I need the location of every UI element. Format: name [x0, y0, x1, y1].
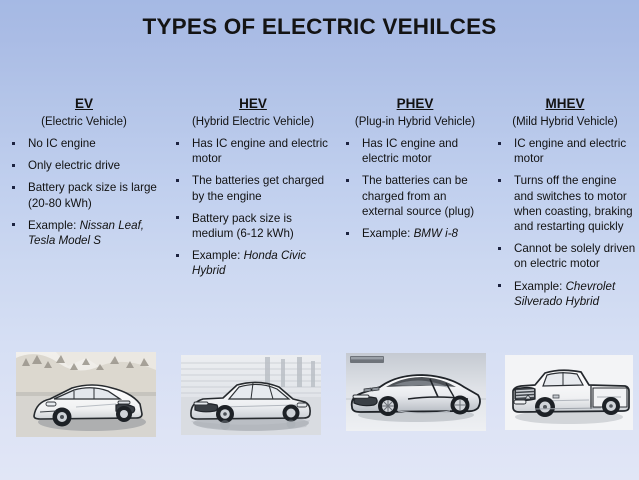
bullet-text: Battery pack size is medium (6-12 kWh): [192, 212, 294, 240]
list-item: Example: Chevrolet Silverado Hybrid: [492, 279, 638, 309]
column-mhev: MHEV (Mild Hybrid Vehicle) IC engine and…: [492, 96, 638, 316]
bullet-text: No IC engine: [28, 137, 96, 150]
bullet-emphasis: BMW i-8: [414, 227, 458, 240]
list-item: Turns off the engine and switches to mot…: [492, 173, 638, 234]
column-phev-bullet-list: Has IC engine and electric motor The bat…: [340, 136, 490, 241]
tesla-model-s-photo: [16, 352, 156, 437]
bullet-text: IC engine and electric motor: [514, 137, 626, 165]
column-mhev-heading: MHEV: [492, 96, 638, 112]
bullet-text: Cannot be solely driven on electric moto…: [514, 242, 635, 270]
column-hev-subheading: (Hybrid Electric Vehicle): [170, 115, 336, 130]
bullet-text: Only electric drive: [28, 159, 120, 172]
list-item: The batteries get charged by the engine: [170, 173, 336, 203]
list-item: Only electric drive: [6, 158, 162, 173]
list-item: Example: Honda Civic Hybrid: [170, 248, 336, 278]
column-hev-heading: HEV: [170, 96, 336, 112]
column-phev: PHEV (Plug-in Hybrid Vehicle) Has IC eng…: [340, 96, 490, 248]
list-item: Has IC engine and electric motor: [340, 136, 490, 166]
list-item: Cannot be solely driven on electric moto…: [492, 241, 638, 271]
column-phev-heading: PHEV: [340, 96, 490, 112]
bullet-text: The batteries can be charged from an ext…: [362, 174, 474, 217]
list-item: Example: BMW i-8: [340, 226, 490, 241]
column-hev: HEV (Hybrid Electric Vehicle) Has IC eng…: [170, 96, 336, 286]
list-item: Has IC engine and electric motor: [170, 136, 336, 166]
column-ev-bullet-list: No IC engine Only electric drive Battery…: [6, 136, 162, 248]
list-item: No IC engine: [6, 136, 162, 151]
bullet-text: Has IC engine and electric motor: [362, 137, 458, 165]
bullet-text: Example:: [28, 219, 80, 232]
column-ev-subheading: (Electric Vehicle): [6, 115, 162, 130]
slide-canvas: TYPES OF ELECTRIC VEHILCES EV (Electric …: [0, 0, 639, 480]
list-item: Battery pack size is medium (6-12 kWh): [170, 211, 336, 241]
honda-civic-hybrid-photo: [181, 355, 321, 435]
bullet-text: Has IC engine and electric motor: [192, 137, 328, 165]
column-hev-bullet-list: Has IC engine and electric motor The bat…: [170, 136, 336, 279]
list-item: The batteries can be charged from an ext…: [340, 173, 490, 219]
column-mhev-bullet-list: IC engine and electric motor Turns off t…: [492, 136, 638, 309]
bullet-text: Example:: [192, 249, 244, 262]
bullet-text: Battery pack size is large (20-80 kWh): [28, 181, 157, 209]
chevrolet-silverado-hybrid-photo: [505, 355, 633, 430]
bullet-text: The batteries get charged by the engine: [192, 174, 324, 202]
column-ev-heading: EV: [6, 96, 162, 112]
bmw-i8-photo: [346, 353, 486, 431]
page-title: TYPES OF ELECTRIC VEHILCES: [0, 14, 639, 40]
bullet-text: Turns off the engine and switches to mot…: [514, 174, 633, 233]
list-item: Example: Nissan Leaf, Tesla Model S: [6, 218, 162, 248]
column-phev-subheading: (Plug-in Hybrid Vehicle): [340, 115, 490, 130]
list-item: Battery pack size is large (20-80 kWh): [6, 180, 162, 210]
list-item: IC engine and electric motor: [492, 136, 638, 166]
bullet-text: Example:: [514, 280, 566, 293]
column-ev: EV (Electric Vehicle) No IC engine Only …: [6, 96, 162, 255]
column-mhev-subheading: (Mild Hybrid Vehicle): [492, 115, 638, 130]
bullet-text: Example:: [362, 227, 414, 240]
